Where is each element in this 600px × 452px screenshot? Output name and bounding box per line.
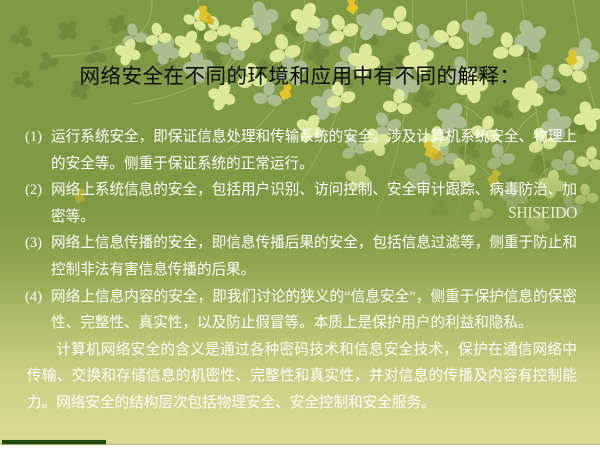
summary-paragraph: 计算机网络安全的含义是通过各种密码技术和信息安全技术，保护在通信网络中传输、交换… [25,337,577,417]
list-item-text: 运行系统安全，即保证信息处理和传输系统的安全。涉及计算机系统安全、物理上的安全等… [51,124,577,177]
slide-body: (1) 运行系统安全，即保证信息处理和传输系统的安全。涉及计算机系统安全、物理上… [25,124,577,417]
list-marker: (3) [25,230,49,257]
presentation-slide: 网络安全在不同的环境和应用中有不同的解释： (1) 运行系统安全，即保证信息处理… [0,0,600,452]
slide-bottom-edge [0,445,600,452]
list-marker: (1) [25,124,49,151]
list-item-text: 网络上系统信息的安全，包括用户识别、访问控制、安全审计跟踪、病毒防治、加密等。 [51,177,577,230]
slide-title: 网络安全在不同的环境和应用中有不同的解释： [0,64,600,90]
list-item: (1) 运行系统安全，即保证信息处理和传输系统的安全。涉及计算机系统安全、物理上… [25,124,577,177]
list-item-text: 网络上信息内容的安全，即我们讨论的狭义的“信息安全”，侧重于保护信息的保密性、完… [51,284,577,337]
list-item: (2) 网络上系统信息的安全，包括用户识别、访问控制、安全审计跟踪、病毒防治、加… [25,177,577,230]
list-marker: (4) [25,284,49,311]
list-item: (3) 网络上信息传播的安全，即信息传播后果的安全，包括信息过滤等，侧重于防止和… [25,230,577,283]
list-marker: (2) [25,177,49,204]
list-item: (4) 网络上信息内容的安全，即我们讨论的狭义的“信息安全”，侧重于保护信息的保… [25,284,577,337]
list-item-text: 网络上信息传播的安全，即信息传播后果的安全，包括信息过滤等，侧重于防止和控制非法… [51,230,577,283]
shiseido-watermark: SHISEIDO [508,203,577,223]
